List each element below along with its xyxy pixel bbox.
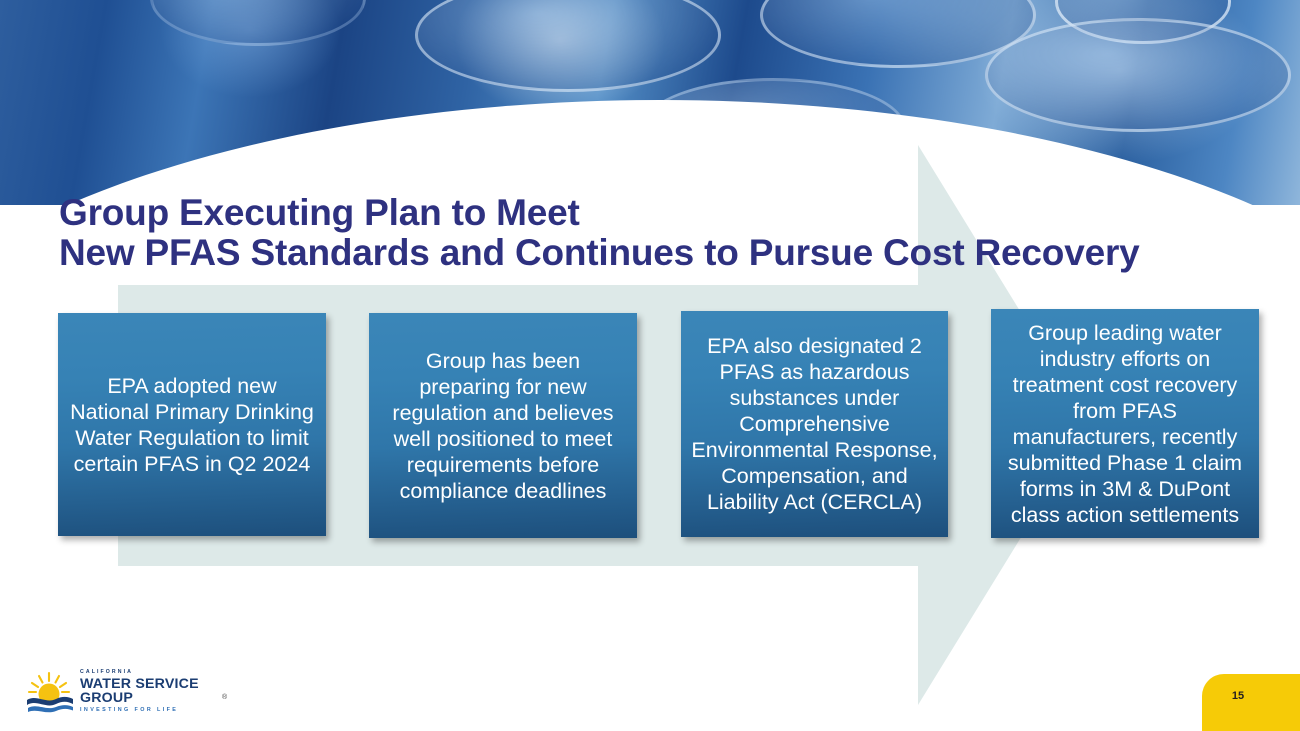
box-text: Group leading water industry efforts on … bbox=[1000, 320, 1250, 528]
page-title: Group Executing Plan to Meet New PFAS St… bbox=[59, 193, 1159, 274]
header-image-band bbox=[0, 0, 1300, 205]
title-line-2: New PFAS Standards and Continues to Purs… bbox=[59, 233, 1159, 274]
presentation-slide: Group Executing Plan to Meet New PFAS St… bbox=[0, 0, 1300, 731]
group-preparedness-box[interactable]: Group has been preparing for new regulat… bbox=[369, 313, 637, 538]
logo-wordmark: CALIFORNIA WATER SERVICE GROUP INVESTING… bbox=[80, 670, 226, 714]
company-logo: CALIFORNIA WATER SERVICE GROUP INVESTING… bbox=[26, 670, 226, 714]
epa-regulation-box[interactable]: EPA adopted new National Primary Drinkin… bbox=[58, 313, 326, 536]
box-text: EPA adopted new National Primary Drinkin… bbox=[67, 373, 317, 477]
cercla-designation-box[interactable]: EPA also designated 2 PFAS as hazardous … bbox=[681, 311, 948, 537]
glass-beaker-rim-icon bbox=[985, 18, 1291, 132]
page-number: 15 bbox=[1202, 690, 1274, 702]
cost-recovery-box[interactable]: Group leading water industry efforts on … bbox=[991, 309, 1259, 538]
box-text: Group has been preparing for new regulat… bbox=[378, 348, 628, 504]
box-text: EPA also designated 2 PFAS as hazardous … bbox=[690, 333, 939, 515]
logo-trademark: ® bbox=[222, 694, 227, 701]
glass-beaker-rim-icon bbox=[150, 0, 366, 46]
page-number-tab: 15 bbox=[1202, 674, 1300, 731]
sunrise-over-water-icon bbox=[26, 671, 74, 713]
logo-eyebrow: CALIFORNIA bbox=[80, 670, 226, 675]
logo-tagline: INVESTING FOR LIFE bbox=[80, 708, 226, 713]
logo-name: WATER SERVICE GROUP bbox=[80, 677, 226, 705]
glass-beaker-rim-icon bbox=[415, 0, 721, 92]
title-line-1: Group Executing Plan to Meet bbox=[59, 193, 1159, 234]
